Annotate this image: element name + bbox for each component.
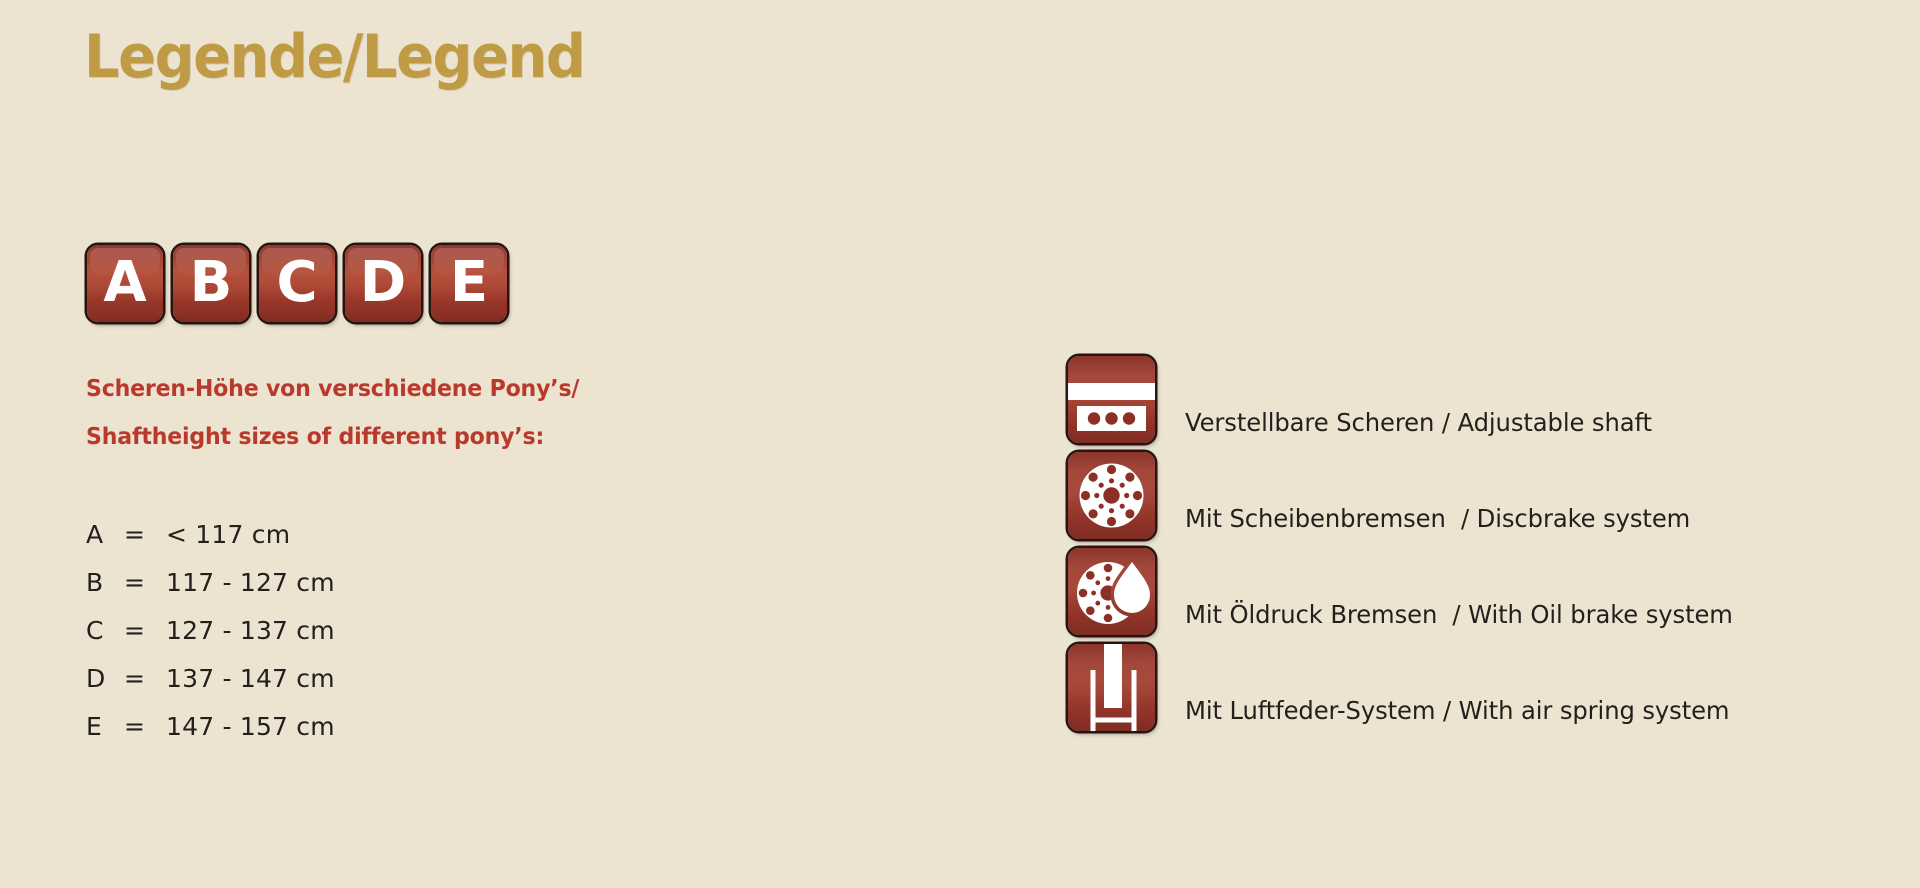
oil-brake-icon [1068, 548, 1155, 635]
size-key: A [86, 520, 124, 549]
size-equals: = [124, 568, 166, 597]
size-value: 117 - 127 cm [166, 568, 335, 597]
size-value: < 117 cm [166, 520, 290, 549]
discbrake-icon [1068, 452, 1155, 539]
letter-badge-group: A B C D E [87, 245, 507, 322]
letter-badge-label: D [360, 255, 406, 311]
size-key: D [86, 664, 124, 693]
size-equals: = [124, 712, 166, 741]
size-key: C [86, 616, 124, 645]
size-equals: = [124, 664, 166, 693]
legend-page: Legende/Legend A B C D E Scheren-Höhe vo… [0, 0, 1920, 888]
size-key: B [86, 568, 124, 597]
size-equals: = [124, 520, 166, 549]
size-list-item: D = 137 - 147 cm [86, 664, 335, 712]
feature-label: Mit Öldruck Bremsen / With Oil brake sys… [1185, 600, 1733, 629]
letter-badge-b: B [173, 245, 249, 322]
size-list-item: A = < 117 cm [86, 520, 335, 568]
letter-badge-e: E [431, 245, 507, 322]
shaftheight-heading-de: Scheren-Höhe von verschiedene Pony’s/ [86, 376, 579, 402]
size-list-item: C = 127 - 137 cm [86, 616, 335, 664]
adjustable-shaft-icon [1068, 356, 1155, 443]
size-value: 147 - 157 cm [166, 712, 335, 741]
feature-label: Mit Scheibenbremsen / Discbrake system [1185, 504, 1690, 533]
feature-label: Mit Luftfeder-System / With air spring s… [1185, 696, 1729, 725]
air-spring-icon [1068, 644, 1155, 731]
size-list-item: B = 117 - 127 cm [86, 568, 335, 616]
page-title: Legende/Legend [84, 22, 584, 92]
size-list: A = < 117 cm B = 117 - 127 cm C = 127 - … [86, 520, 335, 760]
size-value: 137 - 147 cm [166, 664, 335, 693]
letter-badge-a: A [87, 245, 163, 322]
size-list-item: E = 147 - 157 cm [86, 712, 335, 760]
size-equals: = [124, 616, 166, 645]
shaftheight-heading-en: Shaftheight sizes of different pony’s: [86, 424, 544, 450]
feature-label: Verstellbare Scheren / Adjustable shaft [1185, 408, 1652, 437]
letter-badge-label: E [450, 255, 488, 311]
letter-badge-d: D [345, 245, 421, 322]
size-value: 127 - 137 cm [166, 616, 335, 645]
letter-badge-c: C [259, 245, 335, 322]
letter-badge-label: A [103, 255, 146, 311]
letter-badge-label: C [276, 255, 317, 311]
letter-badge-label: B [190, 255, 233, 311]
size-key: E [86, 712, 124, 741]
